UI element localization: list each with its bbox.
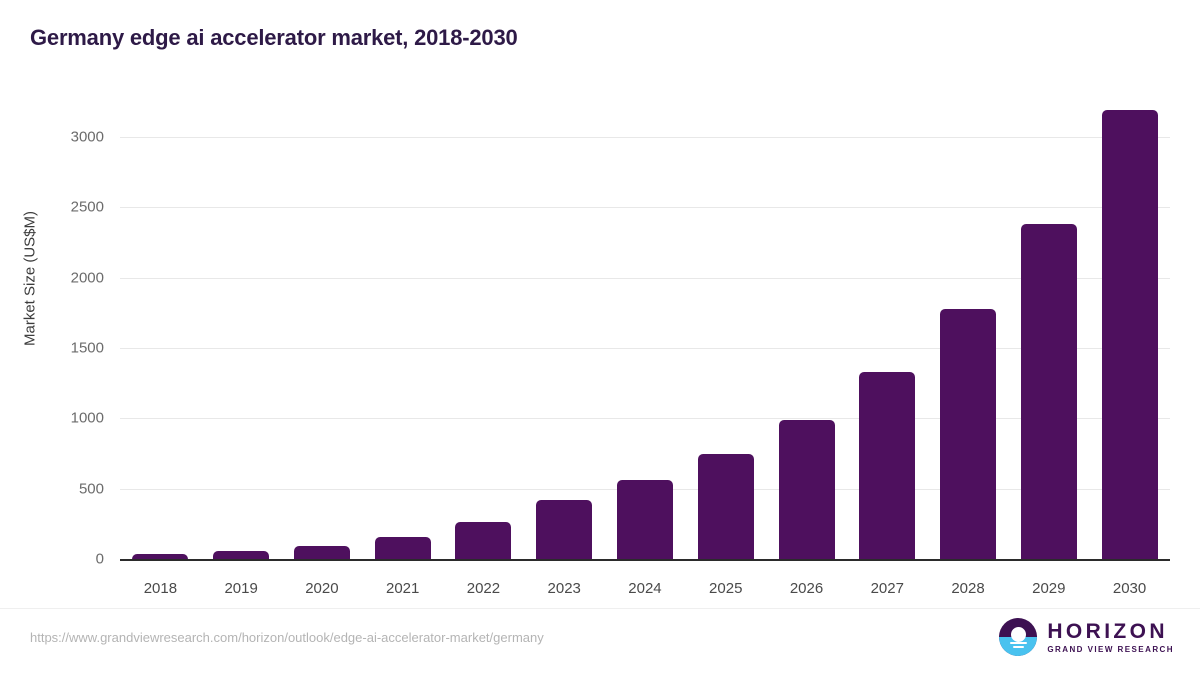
bar-slot: 2027 (847, 137, 928, 559)
x-tick-label: 2025 (685, 580, 766, 597)
bar-slot: 2024 (605, 137, 686, 559)
x-tick-label: 2023 (524, 580, 605, 597)
bar-slot: 2030 (1089, 137, 1170, 559)
x-tick-label: 2029 (1008, 580, 1089, 597)
source-url[interactable]: https://www.grandviewresearch.com/horizo… (30, 630, 544, 645)
y-tick-label: 3000 (28, 129, 118, 146)
x-tick-label: 2024 (605, 580, 686, 597)
bar-2023[interactable] (536, 500, 592, 559)
x-tick-label: 2030 (1089, 580, 1170, 597)
chart-screenshot: Germany edge ai accelerator market, 2018… (0, 0, 1200, 675)
x-tick-label: 2020 (282, 580, 363, 597)
plot-region: 050010001500200025003000 201820192020202… (120, 137, 1170, 559)
bar-2030[interactable] (1102, 110, 1158, 559)
bar-slot: 2021 (362, 137, 443, 559)
bar-slot: 2018 (120, 137, 201, 559)
bar-series: 2018201920202021202220232024202520262027… (120, 137, 1170, 559)
logo-text: HORIZON GRAND VIEW RESEARCH (1047, 621, 1174, 654)
y-tick-label: 2500 (28, 199, 118, 216)
x-tick-label: 2022 (443, 580, 524, 597)
bar-slot: 2025 (685, 137, 766, 559)
bar-2025[interactable] (698, 454, 754, 560)
x-tick-label: 2018 (120, 580, 201, 597)
y-tick-label: 1500 (28, 340, 118, 357)
logo-tagline: GRAND VIEW RESEARCH (1047, 646, 1174, 654)
x-tick-label: 2019 (201, 580, 282, 597)
y-tick-label: 2000 (28, 269, 118, 286)
horizon-logo: HORIZON GRAND VIEW RESEARCH (999, 618, 1174, 656)
bar-2019[interactable] (213, 551, 269, 559)
bar-2022[interactable] (455, 522, 511, 559)
x-tick-label: 2026 (766, 580, 847, 597)
bar-2029[interactable] (1021, 224, 1077, 559)
bar-slot: 2023 (524, 137, 605, 559)
bar-slot: 2020 (282, 137, 363, 559)
x-tick-label: 2028 (928, 580, 1009, 597)
y-tick-label: 500 (28, 480, 118, 497)
x-axis-line (120, 559, 1170, 561)
bar-slot: 2022 (443, 137, 524, 559)
x-tick-label: 2021 (362, 580, 443, 597)
logo-wordmark: HORIZON (1047, 621, 1174, 642)
bar-slot: 2026 (766, 137, 847, 559)
y-tick-label: 1000 (28, 410, 118, 427)
bar-slot: 2028 (928, 137, 1009, 559)
footer-divider (0, 608, 1200, 609)
bar-2026[interactable] (779, 420, 835, 559)
bar-2028[interactable] (940, 309, 996, 559)
bar-2027[interactable] (859, 372, 915, 559)
horizon-sun-icon (999, 618, 1037, 656)
bar-slot: 2019 (201, 137, 282, 559)
page-title: Germany edge ai accelerator market, 2018… (30, 25, 518, 51)
bar-2024[interactable] (617, 480, 673, 559)
bar-slot: 2029 (1008, 137, 1089, 559)
y-tick-label: 0 (28, 551, 118, 568)
bar-2021[interactable] (375, 537, 431, 559)
bar-2020[interactable] (294, 546, 350, 559)
chart-area: Market Size (US$M) 050010001500200025003… (0, 70, 1200, 580)
x-tick-label: 2027 (847, 580, 928, 597)
